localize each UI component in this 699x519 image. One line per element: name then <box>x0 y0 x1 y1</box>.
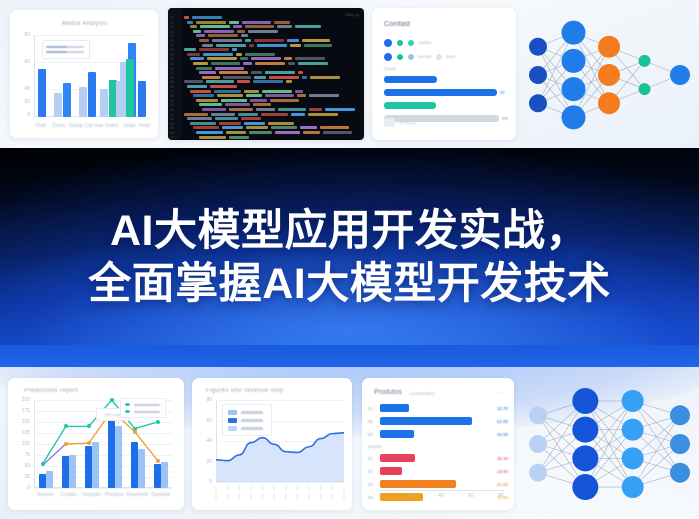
legend-dot <box>436 54 442 60</box>
code-token <box>196 34 205 37</box>
code-line-number: 24 <box>170 30 174 34</box>
area-legend <box>222 404 272 436</box>
code-token <box>251 57 281 60</box>
code-line-number: 27 <box>170 44 174 48</box>
nn-node <box>572 474 598 500</box>
code-token <box>233 25 242 28</box>
code-token <box>193 94 214 97</box>
code-token <box>256 108 275 111</box>
y-tick: 125 <box>10 430 30 436</box>
x-tick: | <box>257 494 269 500</box>
data-point <box>64 442 68 446</box>
code-token <box>251 71 262 74</box>
nn-node <box>529 38 547 56</box>
code-token <box>302 76 307 79</box>
x-tick: | <box>222 494 234 500</box>
y-tick: 0 <box>194 479 212 485</box>
metrics-bar <box>384 76 437 83</box>
hbar-value: 30.40 <box>497 456 508 461</box>
x-tick: | <box>315 486 327 492</box>
code-token <box>269 76 299 79</box>
code-editor-filename: index.js <box>345 12 359 17</box>
code-token <box>284 57 292 60</box>
nn-node <box>670 65 690 85</box>
banner-title-line1: AI大模型应用开发实战， <box>110 206 589 257</box>
code-token <box>196 99 218 102</box>
code-token <box>219 71 248 74</box>
hbar-label: 02 <box>368 469 373 474</box>
code-token <box>204 30 234 33</box>
code-token <box>202 44 213 47</box>
code-token <box>268 122 294 125</box>
area-chart-title: Figures unit revenue only <box>206 388 283 394</box>
code-token <box>187 85 207 88</box>
combo-chart-title: Predictions report <box>24 388 78 394</box>
hbar <box>380 430 414 438</box>
hbar-value: 32.70 <box>497 406 508 411</box>
hbar-section-label: Detalhe <box>368 444 382 449</box>
code-line-number: 36 <box>170 85 174 89</box>
code-token <box>192 16 222 19</box>
card-metrics-panel: Comfast combo normal error Count 980% A)… <box>372 8 516 140</box>
code-line-number: 35 <box>170 80 174 84</box>
hbar-subtitle: Comparativo <box>410 391 435 396</box>
code-token <box>206 80 234 83</box>
code-line-number: 39 <box>170 99 174 103</box>
code-token <box>295 25 321 28</box>
code-line-number: 47 <box>170 136 174 140</box>
metrics-footer-chip <box>384 118 395 127</box>
x-tick: | <box>280 486 292 492</box>
code-token <box>295 90 303 93</box>
code-token <box>249 131 272 134</box>
x-tick: Cut now <box>84 123 104 129</box>
nn-node <box>572 417 598 443</box>
code-token <box>212 39 242 42</box>
code-token <box>303 131 320 134</box>
code-token <box>226 131 246 134</box>
nn-node <box>529 94 547 112</box>
code-token <box>277 25 292 28</box>
hbar-label: 01 <box>368 406 373 411</box>
metrics-title: Comfast <box>384 21 410 28</box>
code-token <box>238 113 258 116</box>
code-token <box>199 136 226 139</box>
code-token <box>203 53 233 56</box>
code-token <box>325 108 355 111</box>
code-line-number: 22 <box>170 21 174 25</box>
nn-node <box>622 390 644 412</box>
code-token <box>270 99 299 102</box>
nn-node <box>562 105 586 129</box>
code-token <box>207 57 237 60</box>
x-tick: | <box>268 494 280 500</box>
code-token <box>214 90 241 93</box>
nn-node <box>562 77 586 101</box>
nn-node <box>529 66 547 84</box>
nn-node <box>670 434 690 454</box>
neural-network-top <box>524 10 694 140</box>
code-token <box>184 113 208 116</box>
code-token <box>320 126 349 129</box>
data-point <box>41 462 45 466</box>
nn-node <box>562 49 586 73</box>
code-token <box>240 57 248 60</box>
nn-node <box>598 64 620 86</box>
code-token <box>298 62 328 65</box>
metrics-section-label: Count <box>384 66 396 71</box>
data-point <box>110 398 114 402</box>
metrics-footer-label: A) %,LLL <box>399 120 417 125</box>
hbar <box>380 480 456 488</box>
y-tick: 0 <box>10 485 30 491</box>
x-tick: | <box>326 494 338 500</box>
code-token <box>187 21 193 24</box>
y-tick: 50 <box>10 463 30 469</box>
code-token <box>208 34 238 37</box>
hbar <box>380 454 415 462</box>
code-token <box>202 76 220 79</box>
area-chart-plot: 020406080 <box>216 400 344 482</box>
code-line-number: 43 <box>170 117 174 121</box>
code-token <box>245 39 251 42</box>
code-token <box>217 94 243 97</box>
x-tick: Group <box>67 123 85 129</box>
bar <box>116 81 124 117</box>
code-token <box>221 99 247 102</box>
code-token <box>237 30 245 33</box>
bar-chart-legend <box>42 40 90 59</box>
y-tick: 60 <box>194 418 212 424</box>
code-token <box>210 85 237 88</box>
code-line-number: 34 <box>170 76 174 80</box>
code-token <box>196 67 212 70</box>
code-token <box>287 39 299 42</box>
metrics-bar <box>384 89 497 96</box>
nn-node <box>622 447 644 469</box>
hbar <box>380 417 472 425</box>
x-tick: | <box>291 486 303 492</box>
code-token <box>271 126 297 129</box>
code-line-number: 42 <box>170 113 174 117</box>
code-token <box>253 103 271 106</box>
nn-node <box>639 83 651 95</box>
x-tick: | <box>257 486 269 492</box>
code-token <box>309 94 339 97</box>
x-tick: | <box>338 486 350 492</box>
y-tick: 80 <box>194 397 212 403</box>
code-line-number: 45 <box>170 126 174 130</box>
nn-node <box>529 435 547 453</box>
legend-dot <box>408 40 414 46</box>
legend-dot <box>384 39 392 47</box>
code-token <box>241 34 248 37</box>
code-token <box>193 62 208 65</box>
x-tick: | <box>233 486 245 492</box>
nn-node <box>622 476 644 498</box>
code-token <box>184 48 196 51</box>
code-token <box>190 90 211 93</box>
code-line-number: 38 <box>170 94 174 98</box>
hbar-label: 01 <box>368 456 373 461</box>
code-token <box>310 76 340 79</box>
x-tick: | <box>210 494 222 500</box>
code-token <box>223 76 251 79</box>
hero-banner: AI大模型应用开发实战， 全面掌握AI大模型开发技术 <box>0 148 699 367</box>
code-line-number: 32 <box>170 67 174 71</box>
code-token <box>190 25 197 28</box>
code-token <box>255 62 285 65</box>
code-token <box>229 21 239 24</box>
x-tick: | <box>326 486 338 492</box>
code-line-number: 28 <box>170 48 174 52</box>
nn-node <box>598 36 620 58</box>
x-tick: | <box>338 494 350 500</box>
x-tick: | <box>233 494 245 500</box>
code-token <box>253 80 283 83</box>
x-tick: | <box>315 494 327 500</box>
code-line-number: 30 <box>170 57 174 61</box>
code-token <box>215 67 244 70</box>
y-tick: 200 <box>10 397 30 403</box>
bar <box>126 59 134 117</box>
nn-node <box>562 21 586 45</box>
x-tick: 80 <box>494 493 508 499</box>
y-tick: 25 <box>10 474 30 480</box>
nn-node <box>622 419 644 441</box>
x-tick: 40 <box>434 493 448 499</box>
code-token <box>291 113 305 116</box>
legend-label: combo <box>418 40 431 45</box>
hbar-value: 34.00 <box>497 432 508 437</box>
code-token <box>275 131 300 134</box>
code-token <box>193 126 219 129</box>
code-token <box>245 53 275 56</box>
code-line-number: 46 <box>170 131 174 135</box>
nn-node <box>598 92 620 114</box>
code-token <box>215 117 238 120</box>
code-token <box>216 44 246 47</box>
code-token <box>250 99 267 102</box>
code-line-number: 23 <box>170 25 174 29</box>
code-token <box>323 131 352 134</box>
code-token <box>244 90 259 93</box>
data-point <box>156 420 160 424</box>
combo-chart-plot: 0255075100125150175200 200 units <box>34 400 172 488</box>
code-token <box>187 53 200 56</box>
code-line-number: 31 <box>170 62 174 66</box>
code-token <box>199 103 222 106</box>
card-code-editor[interactable]: index.js 2122232425262728293031323334353… <box>168 8 364 140</box>
nn-node <box>670 463 690 483</box>
code-line-number: 21 <box>170 16 174 20</box>
code-token <box>298 71 303 74</box>
nn-node <box>529 406 547 424</box>
data-point <box>156 459 160 463</box>
code-token <box>222 126 243 129</box>
code-line-number: 41 <box>170 108 174 112</box>
code-token <box>243 62 252 65</box>
x-tick: | <box>245 494 257 500</box>
code-token <box>245 25 274 28</box>
nn-node <box>572 445 598 471</box>
x-tick: | <box>291 494 303 500</box>
nn-node <box>529 464 547 482</box>
banner-text-block: AI大模型应用开发实战， 全面掌握AI大模型开发技术 <box>0 148 699 367</box>
code-token <box>249 44 254 47</box>
x-tick: Inner <box>136 123 154 129</box>
code-token <box>211 113 235 116</box>
code-token <box>199 39 209 42</box>
x-tick: | <box>245 486 257 492</box>
code-token <box>219 122 241 125</box>
y-tick: 75 <box>10 452 30 458</box>
code-line-number: 44 <box>170 122 174 126</box>
code-token <box>274 21 290 24</box>
x-tick: | <box>303 494 315 500</box>
x-tick: Danielid <box>143 492 178 498</box>
legend-dot <box>384 53 392 61</box>
code-token <box>241 117 261 120</box>
code-token <box>184 80 203 83</box>
code-token <box>246 126 268 129</box>
code-token <box>254 76 266 79</box>
nn-node <box>639 55 651 67</box>
y-tick: 100 <box>10 441 30 447</box>
x-tick: 60 <box>464 493 478 499</box>
legend-label: normal <box>418 54 431 59</box>
hbar-title: Produtos <box>374 389 402 396</box>
x-tick: | <box>303 486 315 492</box>
y-tick: 20 <box>194 459 212 465</box>
bar <box>138 81 146 117</box>
x-tick: Over <box>32 123 50 129</box>
hbar-label: 04 <box>368 495 373 500</box>
hbar-value: 61.00 <box>497 482 508 487</box>
nn-node <box>670 405 690 425</box>
nn-node <box>572 388 598 414</box>
data-point <box>133 430 137 434</box>
code-token <box>248 30 278 33</box>
hbar <box>380 404 409 412</box>
x-tick: Eaten <box>103 123 121 129</box>
y-tick: 175 <box>10 408 30 414</box>
hbar-value: 18.80 <box>497 469 508 474</box>
code-token <box>290 44 301 47</box>
metrics-bar-value: 0% <box>502 116 508 121</box>
code-token <box>288 62 295 65</box>
card-bar-chart: Media Analysis 80 60 40 20 0 <box>10 10 158 138</box>
legend-dot <box>397 54 403 60</box>
combo-legend <box>120 398 166 418</box>
code-token <box>193 30 201 33</box>
x-tick: | <box>222 486 234 492</box>
code-token <box>200 25 230 28</box>
legend-label: error <box>446 54 455 59</box>
code-token <box>308 113 338 116</box>
code-token <box>229 136 249 139</box>
code-token <box>286 80 292 83</box>
code-token <box>187 117 212 120</box>
code-line-number: 37 <box>170 90 174 94</box>
code-token <box>246 94 262 97</box>
x-tick: | <box>210 486 222 492</box>
code-token <box>211 62 240 65</box>
code-token <box>232 48 237 51</box>
code-token <box>304 44 332 47</box>
x-tick: Every <box>50 123 68 129</box>
code-token <box>229 108 253 111</box>
code-token <box>242 21 271 24</box>
metrics-bar-value: 98 <box>500 90 505 95</box>
code-token <box>300 126 317 129</box>
y-tick: 150 <box>10 419 30 425</box>
code-token <box>199 71 216 74</box>
code-token <box>265 94 294 97</box>
code-token <box>184 16 189 19</box>
code-token <box>196 21 226 24</box>
card-area-chart: Figures unit revenue only 020406080 ||||… <box>192 378 352 510</box>
hbar-label: 03 <box>368 482 373 487</box>
card-combo-chart: Predictions report 025507510012515017520… <box>8 378 184 510</box>
code-line-number: 40 <box>170 103 174 107</box>
x-tick: | <box>268 486 280 492</box>
hbar-label: 02 <box>368 419 373 424</box>
code-token <box>297 94 306 97</box>
hbar <box>380 467 402 475</box>
code-token <box>265 71 295 74</box>
x-tick: 20 <box>404 493 418 499</box>
code-line-number: 33 <box>170 71 174 75</box>
x-tick: 0 <box>374 493 388 499</box>
code-token <box>236 53 242 56</box>
code-token <box>199 48 229 51</box>
card-hbar-chart: Produtos Comparativo ⋯ 0132.700252.00033… <box>362 378 514 510</box>
code-line-number: 25 <box>170 34 174 38</box>
hbar-menu-icon[interactable]: ⋯ <box>499 390 504 396</box>
code-token <box>295 57 325 60</box>
code-token <box>278 108 306 111</box>
gridline <box>34 488 172 489</box>
legend-dot <box>408 54 414 60</box>
code-line-number: 29 <box>170 53 174 57</box>
code-token <box>261 113 288 116</box>
neural-network-bottom <box>524 378 694 510</box>
code-token <box>257 44 287 47</box>
code-token <box>225 103 250 106</box>
code-token <box>190 122 216 125</box>
code-line-number: 26 <box>170 39 174 43</box>
code-token <box>302 39 330 42</box>
x-tick: | <box>280 494 292 500</box>
code-token <box>309 108 322 111</box>
hbar-label: 03 <box>368 432 373 437</box>
code-token <box>202 108 226 111</box>
code-token <box>254 39 284 42</box>
poster-root: Media Analysis 80 60 40 20 0 <box>0 0 699 519</box>
bar-chart-overlay: Over Every Group Cut now Eaten Julian In… <box>10 10 158 138</box>
banner-title-line2: 全面掌握AI大模型开发技术 <box>88 259 611 310</box>
metrics-bar <box>384 102 436 109</box>
data-point <box>87 441 91 445</box>
hbar-value: 52.00 <box>497 419 508 424</box>
code-token <box>237 80 250 83</box>
gridline <box>216 482 344 483</box>
legend-dot <box>397 40 403 46</box>
code-token <box>190 57 204 60</box>
code-token <box>196 131 223 134</box>
code-token <box>244 122 265 125</box>
